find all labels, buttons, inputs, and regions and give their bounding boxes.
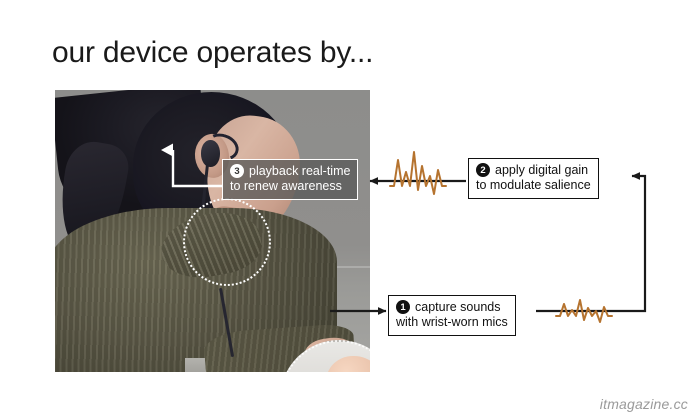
step-2-badge: 2 <box>476 163 490 177</box>
step-2-text-2: to modulate salience <box>476 178 591 193</box>
step-1-callout[interactable]: 1 capture sounds with wrist-worn mics <box>388 295 516 336</box>
step-3-callout[interactable]: 3 playback real-time to renew awareness <box>222 159 358 200</box>
step-2-text-1: apply digital gain <box>495 163 588 178</box>
inset-fist-shape <box>326 356 370 372</box>
watermark: itmagazine.cc <box>600 396 688 412</box>
page-title: our device operates by... <box>52 36 373 70</box>
step-1-badge: 1 <box>396 300 410 314</box>
step-3-line-1: 3 playback real-time <box>230 164 350 179</box>
step-1-text-2: with wrist-worn mics <box>396 315 508 330</box>
ear-highlight-circle <box>183 198 271 286</box>
step-3-badge: 3 <box>230 164 244 178</box>
step-1-line-2: with wrist-worn mics <box>396 315 508 330</box>
step-3-line-2: to renew awareness <box>230 179 350 194</box>
step-1-line-1: 1 capture sounds <box>396 300 508 315</box>
step-3-text-2: to renew awareness <box>230 179 342 194</box>
woman-wearing-earbud-photo <box>55 90 370 372</box>
step-2-line-2: to modulate salience <box>476 178 591 193</box>
captured-waveform <box>556 300 612 322</box>
step-2-callout[interactable]: 2 apply digital gain to modulate salienc… <box>468 158 599 199</box>
amplified-waveform <box>390 152 446 194</box>
step-1-text-1: capture sounds <box>415 300 500 315</box>
slide-canvas: our device operates by... <box>0 0 700 420</box>
earbud-shape <box>201 140 220 167</box>
step-3-text-1: playback real-time <box>249 164 350 179</box>
step-2-line-1: 2 apply digital gain <box>476 163 591 178</box>
